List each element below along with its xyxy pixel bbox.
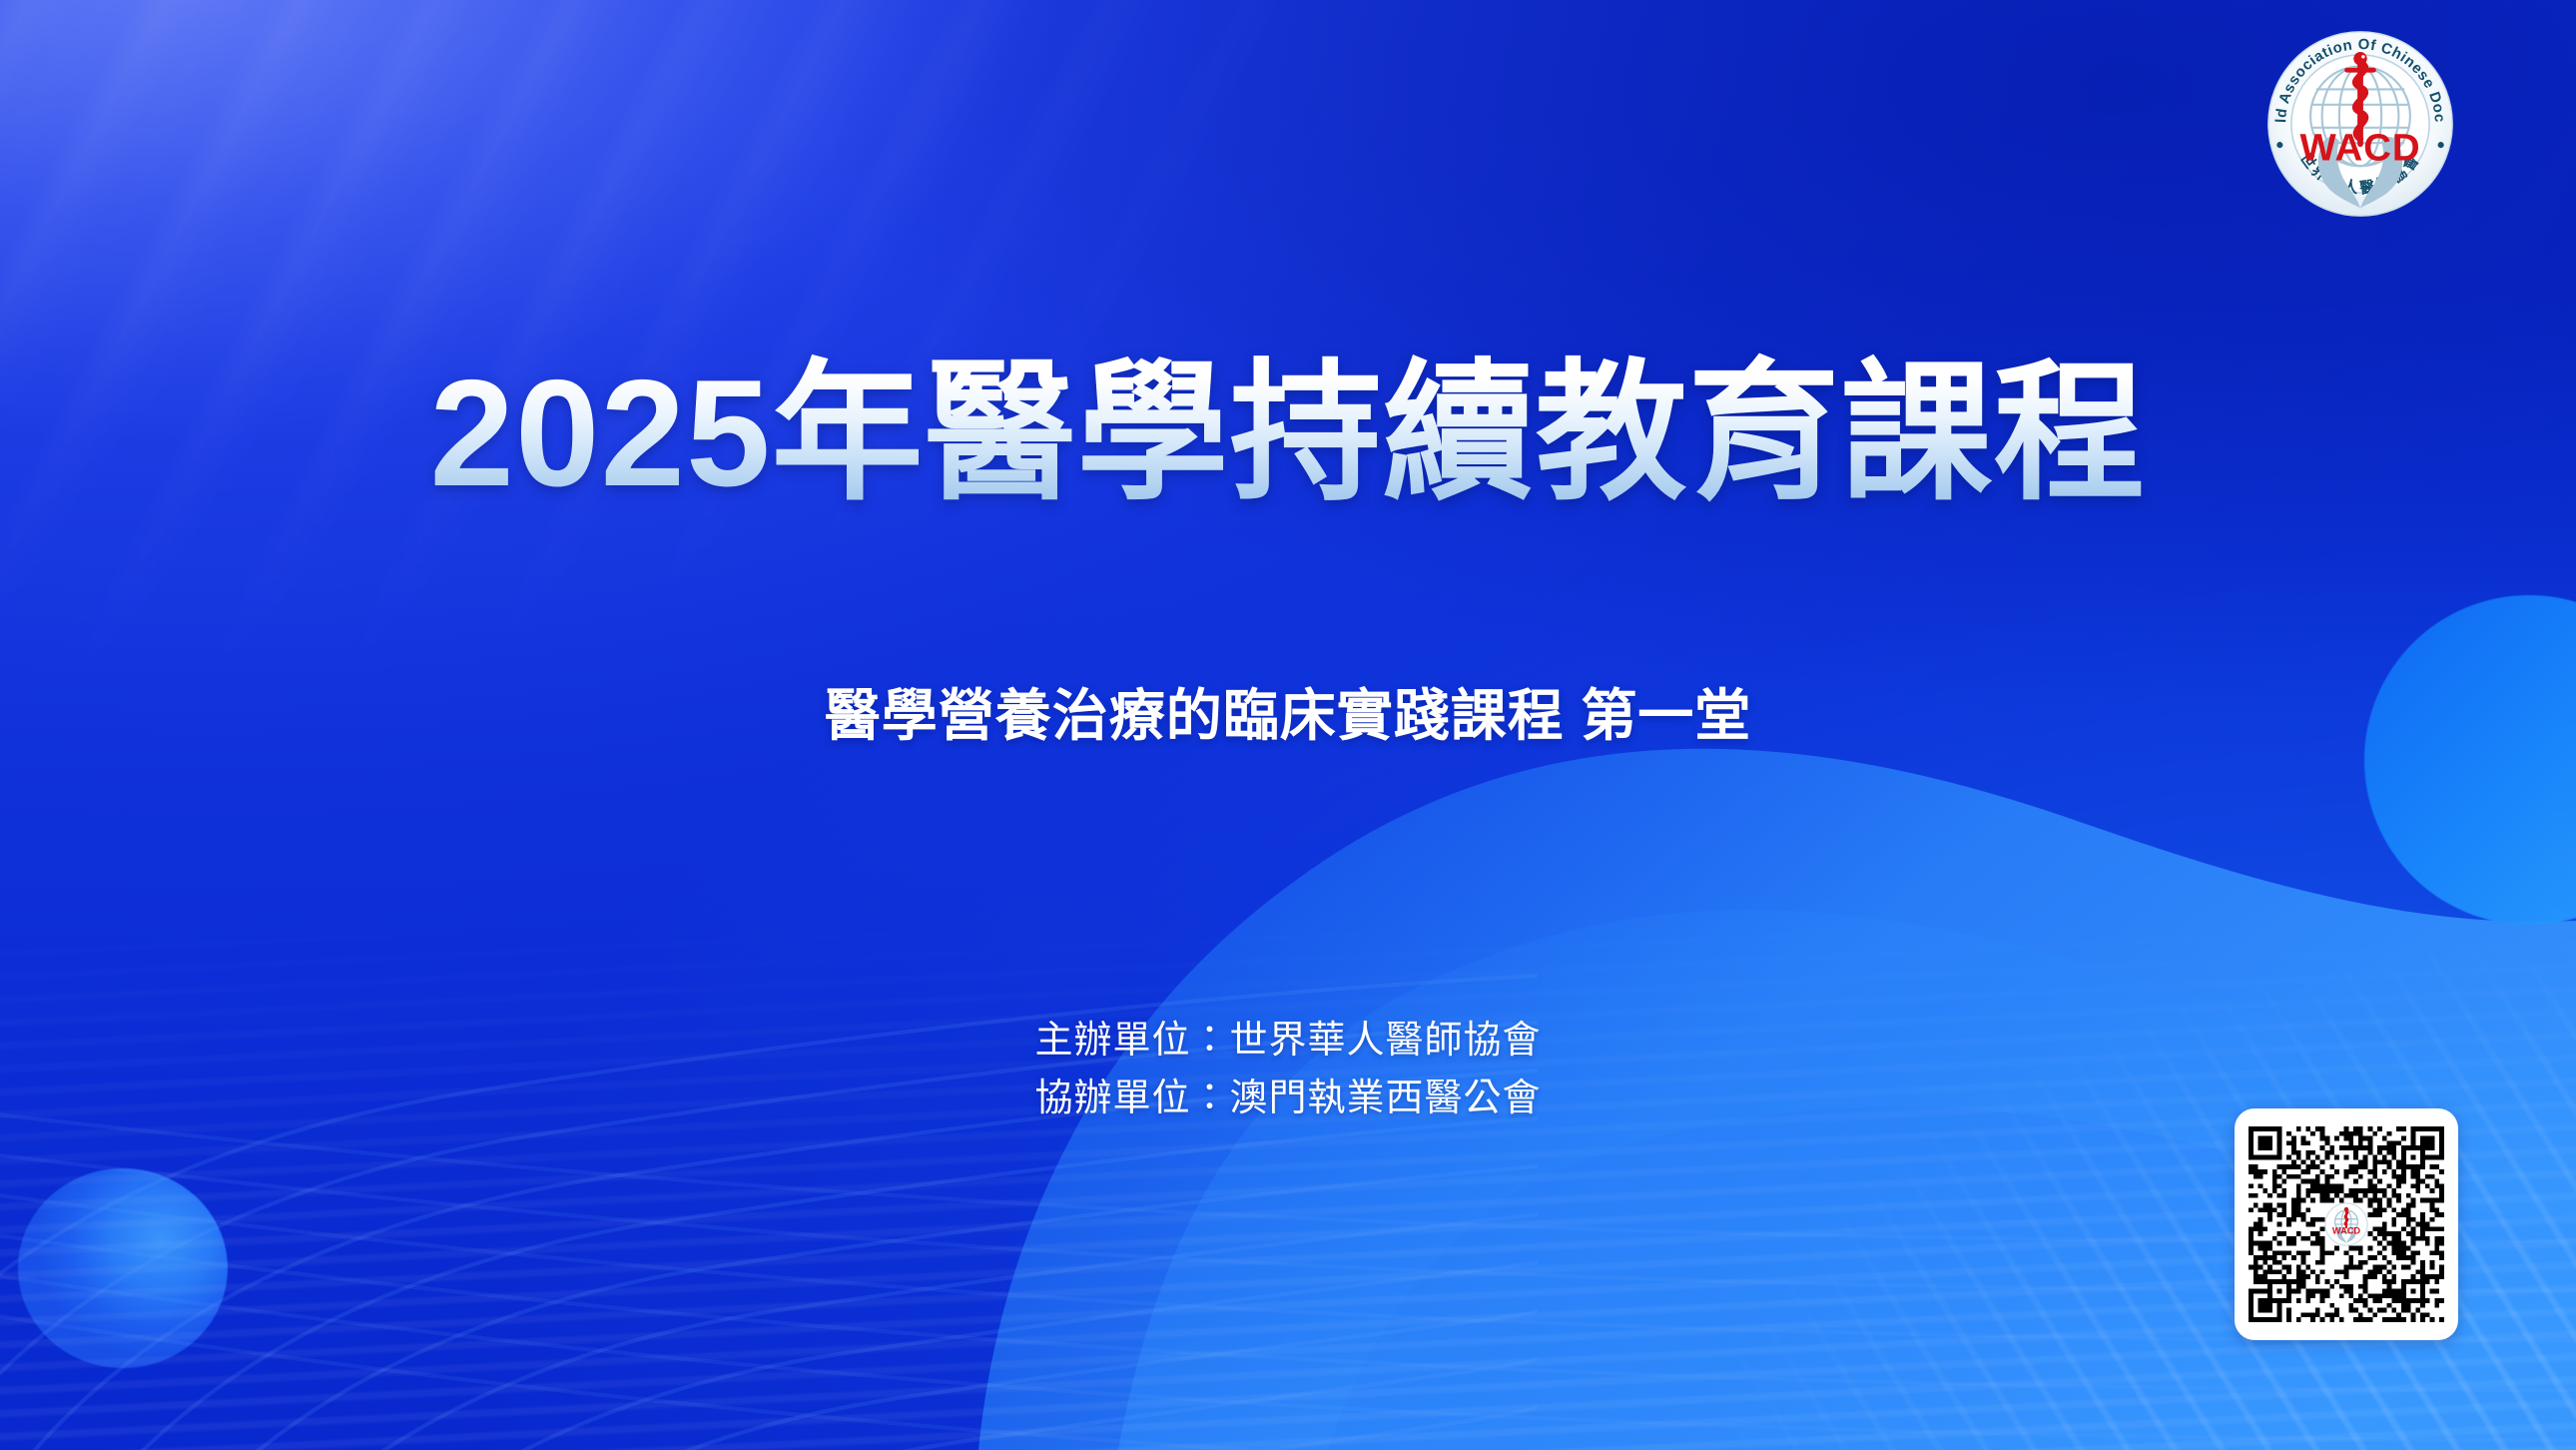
registration-qr-code[interactable]: WACD (2235, 1108, 2458, 1340)
wacd-logo: World Association Of Chinese Doctors 世界華… (2264, 28, 2456, 220)
organizer-line-host: 主辦單位：世界華人醫師協會 (0, 1013, 2576, 1071)
svg-text:WACD: WACD (2332, 1226, 2361, 1236)
page-title: 2025年醫學持續教育課程 (0, 352, 2576, 515)
organizer-block: 主辦單位：世界華人醫師協會 協辦單位：澳門執業西醫公會 (0, 1013, 2576, 1128)
qr-center-logo: WACD (2324, 1202, 2368, 1246)
slide-content: 2025年醫學持續教育課程 醫學營養治療的臨床實踐課程 第一堂 主辦單位：世界華… (0, 0, 2576, 1450)
organizer-line-coorganizer: 協辦單位：澳門執業西醫公會 (0, 1071, 2576, 1128)
page-subtitle: 醫學營養治療的臨床實踐課程 第一堂 (0, 671, 2576, 752)
presentation-slide: 2025年醫學持續教育課程 醫學營養治療的臨床實踐課程 第一堂 主辦單位：世界華… (0, 0, 2576, 1450)
logo-acronym: WACD (2299, 126, 2420, 169)
